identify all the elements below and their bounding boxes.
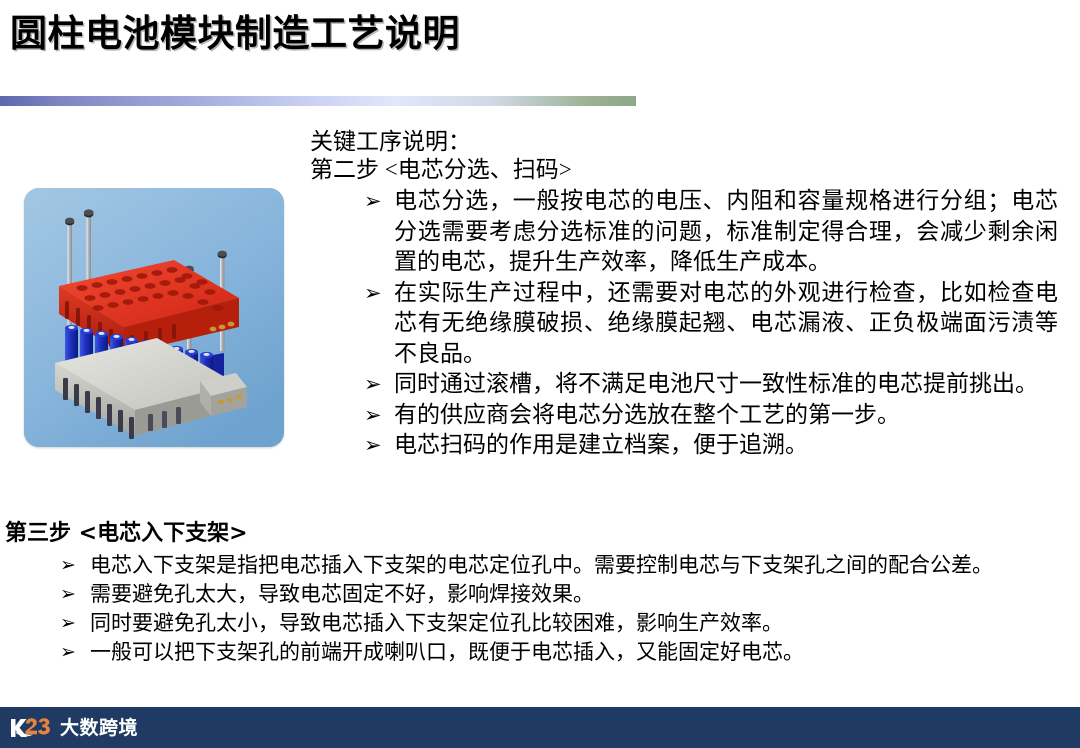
k23-logo-icon [9, 716, 55, 740]
battery-module-illustration [24, 188, 284, 447]
list-item-text: 在实际生产过程中，还需要对电芯的外观进行检查，比如检查电芯有无绝缘膜破损、绝缘膜… [394, 280, 1058, 366]
list-item-text: 电芯分选，一般按电芯的电压、内阻和容量规格进行分组；电芯分选需要考虑分选标准的问… [394, 188, 1058, 274]
list-item-text: 同时通过滚槽，将不满足电池尺寸一致性标准的电芯提前挑出。 [394, 371, 1038, 396]
list-item: ➢ 电芯入下支架是指把电芯插入下支架的电芯定位孔中。需要控制电芯与下支架孔之间的… [5, 551, 1065, 580]
page-title: 圆柱电池模块制造工艺说明 [10, 12, 460, 56]
list-item-text: 需要避免孔太大，导致电芯固定不好，影响焊接效果。 [90, 582, 594, 606]
list-item: ➢ 电芯分选，一般按电芯的电压、内阻和容量规格进行分组；电芯分选需要考虑分选标准… [310, 186, 1058, 278]
list-item-text: 电芯入下支架是指把电芯插入下支架的电芯定位孔中。需要控制电芯与下支架孔之间的配合… [90, 553, 993, 577]
step-three-section: 第三步 <电芯入下支架> ➢ 电芯入下支架是指把电芯插入下支架的电芯定位孔中。需… [5, 520, 1065, 667]
list-item-text: 同时要避免孔太小，导致电芯插入下支架定位孔比较困难，影响生产效率。 [90, 611, 783, 635]
title-gradient-divider [0, 96, 636, 106]
key-process-label: 关键工序说明： [310, 128, 1058, 156]
list-item-text: 有的供应商会将电芯分选放在整个工艺的第一步。 [394, 402, 900, 427]
brand-watermark: 大数跨境 [9, 716, 138, 740]
bullet-arrow-icon: ➢ [60, 551, 76, 580]
bullet-arrow-icon: ➢ [60, 609, 76, 638]
list-item: ➢ 在实际生产过程中，还需要对电芯的外观进行检查，比如检查电芯有无绝缘膜破损、绝… [310, 278, 1058, 370]
step-three-bullet-list: ➢ 电芯入下支架是指把电芯插入下支架的电芯定位孔中。需要控制电芯与下支架孔之间的… [5, 551, 1065, 667]
list-item: ➢ 同时要避免孔太小，导致电芯插入下支架定位孔比较困难，影响生产效率。 [5, 609, 1065, 638]
list-item: ➢ 有的供应商会将电芯分选放在整个工艺的第一步。 [310, 400, 1058, 431]
list-item: ➢ 同时通过滚槽，将不满足电池尺寸一致性标准的电芯提前挑出。 [310, 369, 1058, 400]
step-two-bullet-list: ➢ 电芯分选，一般按电芯的电压、内阻和容量规格进行分组；电芯分选需要考虑分选标准… [310, 186, 1058, 461]
bullet-arrow-icon: ➢ [364, 400, 382, 431]
list-item-text: 一般可以把下支架孔的前端开成喇叭口，既便于电芯插入，又能固定好电芯。 [90, 640, 804, 664]
bullet-arrow-icon: ➢ [364, 430, 382, 461]
footer-bar: 大数跨境 [0, 707, 1080, 748]
step-two-heading: 第二步 <电芯分选、扫码> [310, 156, 1058, 184]
bullet-arrow-icon: ➢ [60, 580, 76, 609]
bullet-arrow-icon: ➢ [60, 638, 76, 667]
list-item-text: 电芯扫码的作用是建立档案，便于追溯。 [394, 432, 808, 457]
bullet-arrow-icon: ➢ [364, 278, 382, 309]
step-three-heading: 第三步 <电芯入下支架> [5, 520, 1065, 548]
brand-name: 大数跨境 [60, 717, 138, 739]
list-item: ➢ 需要避免孔太大，导致电芯固定不好，影响焊接效果。 [5, 580, 1065, 609]
bullet-arrow-icon: ➢ [364, 369, 382, 400]
step-two-section: 关键工序说明： 第二步 <电芯分选、扫码> ➢ 电芯分选，一般按电芯的电压、内阻… [310, 128, 1058, 461]
bullet-arrow-icon: ➢ [364, 186, 382, 217]
list-item: ➢ 一般可以把下支架孔的前端开成喇叭口，既便于电芯插入，又能固定好电芯。 [5, 638, 1065, 667]
list-item: ➢ 电芯扫码的作用是建立档案，便于追溯。 [310, 430, 1058, 461]
